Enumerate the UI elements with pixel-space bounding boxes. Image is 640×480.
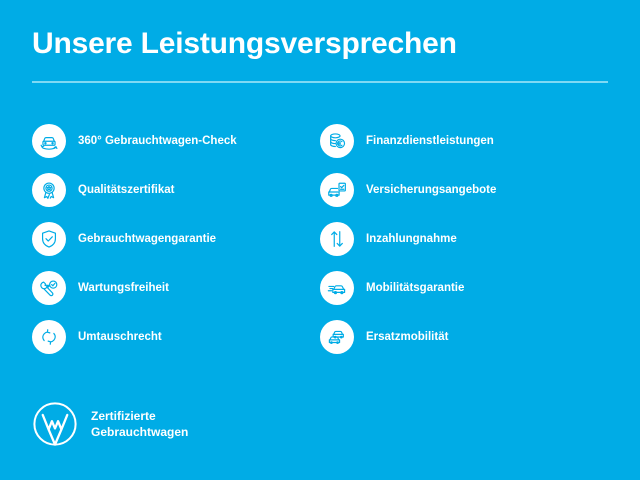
header: Unsere Leistungsversprechen xyxy=(32,26,608,83)
shield-check-icon xyxy=(32,222,66,256)
list-item[interactable]: 360° Gebrauchtwagen-Check xyxy=(32,124,320,158)
list-item-label: Mobilitätsgarantie xyxy=(366,281,464,295)
page-title: Unsere Leistungsversprechen xyxy=(32,26,608,62)
list-item[interactable]: Versicherungsangebote xyxy=(320,173,608,207)
list-item[interactable]: Ersatzmobilität xyxy=(320,320,608,354)
list-item-label: 360° Gebrauchtwagen-Check xyxy=(78,134,237,148)
volkswagen-logo xyxy=(32,401,78,447)
list-item-label: Ersatzmobilität xyxy=(366,330,448,344)
arrows-up-down-icon xyxy=(320,222,354,256)
list-item[interactable]: Inzahlungnahme xyxy=(320,222,608,256)
list-item-label: Inzahlungnahme xyxy=(366,232,457,246)
promise-banner: Unsere Leistungsversprechen xyxy=(0,0,640,480)
list-item-label: Umtauschrecht xyxy=(78,330,162,344)
list-item[interactable]: Qualitätszertifikat xyxy=(32,173,320,207)
car-document-check-icon xyxy=(320,173,354,207)
brand-text: Zertifizierte Gebrauchtwagen xyxy=(91,408,188,440)
list-item[interactable]: Umtauschrecht xyxy=(32,320,320,354)
list-item-label: Qualitätszertifikat xyxy=(78,183,175,197)
list-item[interactable]: Wartungsfreiheit xyxy=(32,271,320,305)
list-item[interactable]: Finanzdienstleistungen xyxy=(320,124,608,158)
brand-text-line1: Zertifizierte xyxy=(91,408,188,424)
car-360-check-icon xyxy=(32,124,66,158)
promise-grid: 360° Gebrauchtwagen-Check Qualitätszerti… xyxy=(32,124,608,354)
list-item-label: Gebrauchtwagengarantie xyxy=(78,232,216,246)
award-rosette-icon xyxy=(32,173,66,207)
promise-column-left: 360° Gebrauchtwagen-Check Qualitätszerti… xyxy=(32,124,320,354)
coins-euro-icon xyxy=(320,124,354,158)
list-item[interactable]: Gebrauchtwagengarantie xyxy=(32,222,320,256)
brand-lockup: Zertifizierte Gebrauchtwagen xyxy=(32,401,188,447)
list-item-label: Finanzdienstleistungen xyxy=(366,134,494,148)
brand-text-line2: Gebrauchtwagen xyxy=(91,424,188,440)
promise-column-right: Finanzdienstleistungen Versicherungsange… xyxy=(320,124,608,354)
two-cars-icon xyxy=(320,320,354,354)
exchange-arrows-icon xyxy=(32,320,66,354)
car-motion-icon xyxy=(320,271,354,305)
list-item[interactable]: Mobilitätsgarantie xyxy=(320,271,608,305)
wrench-check-icon xyxy=(32,271,66,305)
list-item-label: Versicherungsangebote xyxy=(366,183,496,197)
title-divider xyxy=(32,81,608,83)
list-item-label: Wartungsfreiheit xyxy=(78,281,169,295)
